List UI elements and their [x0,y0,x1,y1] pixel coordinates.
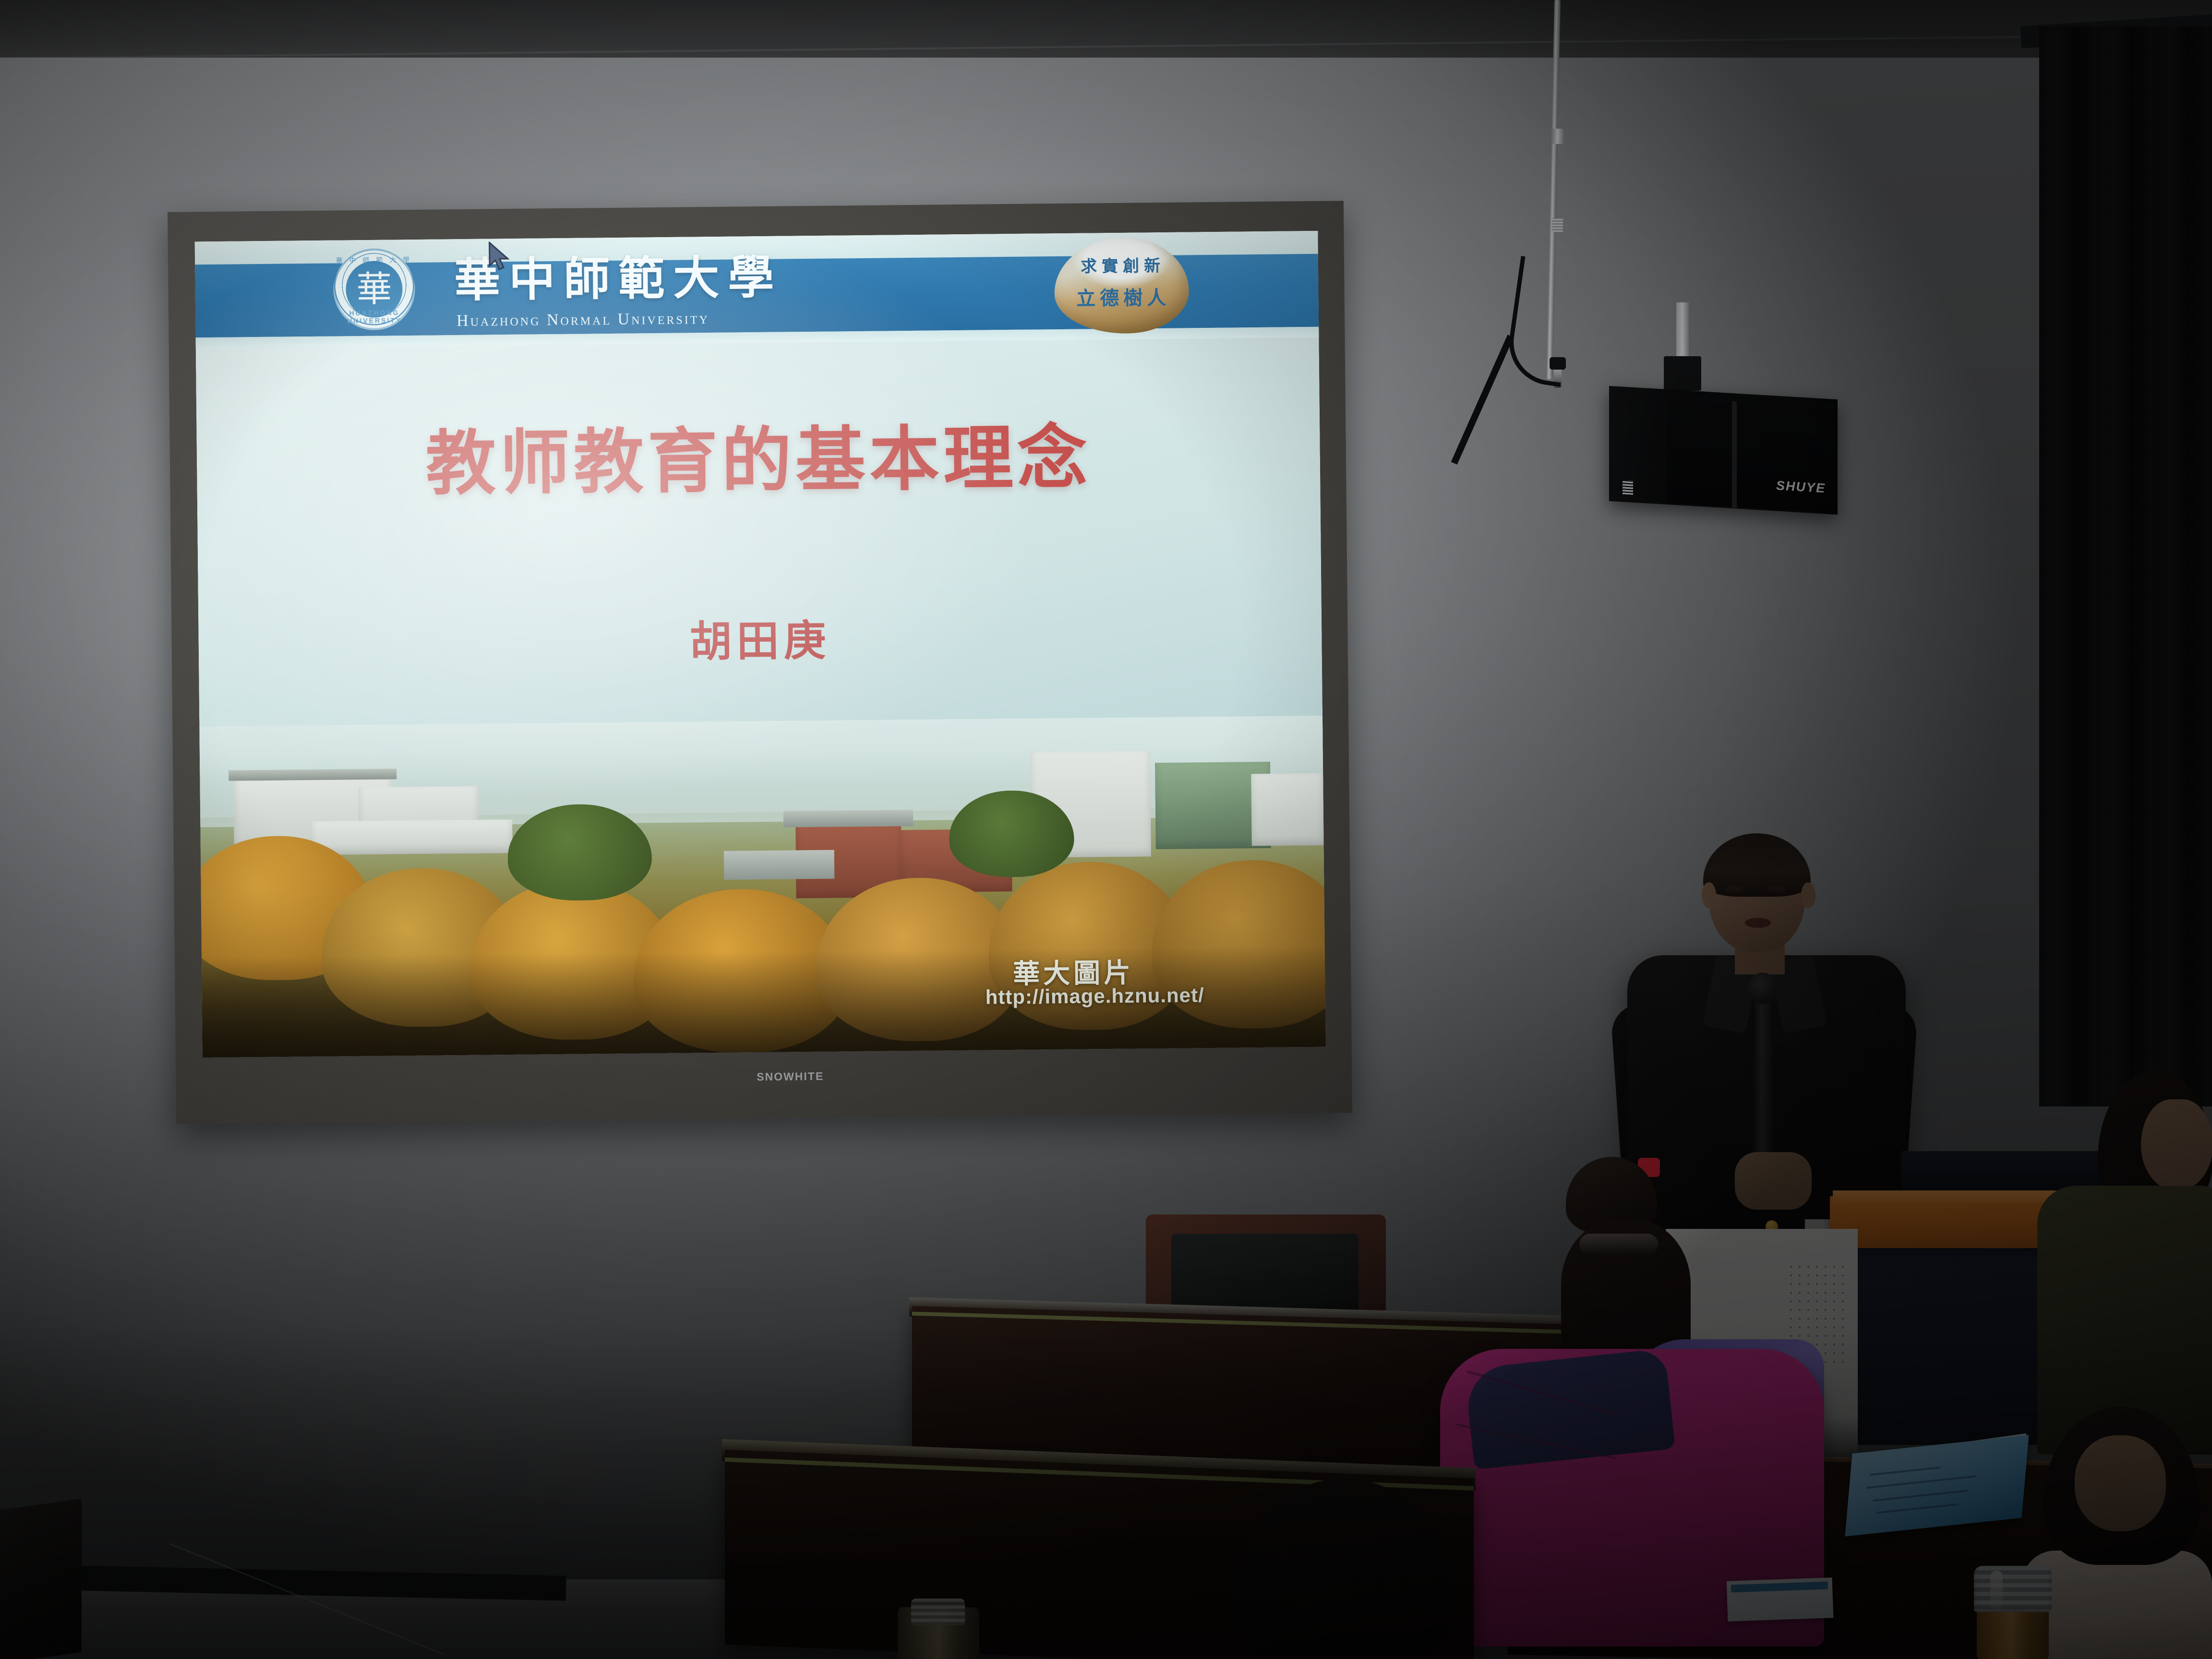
speaker-mount-arm [1676,302,1689,365]
audience-right-back-face [2141,1099,2212,1190]
photo-roof-left [228,769,397,781]
photo-roof-small [724,850,835,880]
projection-screen-surface: 華 中 師 範 大 學 華 HUAZHONG UNIVERSITY 華中師範大學… [195,231,1326,1058]
antenna-joint [1551,129,1564,144]
presenter-mouth [1745,918,1771,928]
photo-roof-red [783,810,913,828]
presenter-ear-right [1801,882,1815,908]
presenter-hands [1735,1152,1812,1210]
campus-aerial-photo: 華大圖片 http://image.hznu.net/ [199,716,1326,1058]
lecture-hall-photo: SHUYE 華 中 師 範 大 學 華 HUAZHONG UNIVERSITY … [0,0,2212,1659]
slide-title-text: 教师教育的基本理念 [196,421,1320,501]
antenna-label [1552,218,1563,232]
booklet-text-line [1873,1490,1968,1502]
presenter-ear-left [1702,882,1716,908]
photo-watermark-url: http://image.hznu.net/ [985,984,1204,1009]
seal-arc-bottom-text: HUAZHONG UNIVERSITY [334,309,415,325]
booklet-text-line [1869,1467,1941,1476]
university-seal-icon: 華 中 師 範 大 學 華 HUAZHONG UNIVERSITY [333,248,416,331]
speaker-mount-bracket [1664,356,1701,391]
thermos-metal-cap[interactable] [1974,1566,2052,1612]
handheld-microphone[interactable] [1752,979,1773,1157]
blackout-curtain[interactable] [2039,26,2212,1106]
audience-right-front-face [2075,1435,2166,1531]
left-table[interactable] [0,1499,82,1659]
microphone-head-icon [1748,973,1778,1004]
powerpoint-slide: 華 中 師 範 大 學 華 HUAZHONG UNIVERSITY 華中師範大學… [195,231,1326,1058]
booklet-text-line [1866,1475,1976,1489]
speaker-badge-icon [1623,480,1633,494]
university-name-english: Huazhong Normal University [457,308,860,330]
hair-clip-icon [1579,1234,1658,1255]
projection-screen-frame: 華 中 師 範 大 學 華 HUAZHONG UNIVERSITY 華中師範大學… [168,201,1352,1124]
speaker-seam [1732,401,1737,508]
motto-line-two: 立德樹人 [1071,282,1175,311]
bottle-neck [911,1599,965,1625]
screen-brand-label: SNOWHITE [733,1070,848,1083]
presenter-eye-right [1768,886,1786,891]
photo-building-low-left [311,819,513,855]
thermos-highlight [1990,1571,2003,1609]
photo-building-far-right [1251,773,1323,846]
booklet-text-line [1876,1503,1958,1514]
presenter-eye-left [1725,886,1743,891]
slide-author-name: 胡田庚 [198,615,1322,668]
motto-line-one: 求實創新 [1072,252,1173,277]
